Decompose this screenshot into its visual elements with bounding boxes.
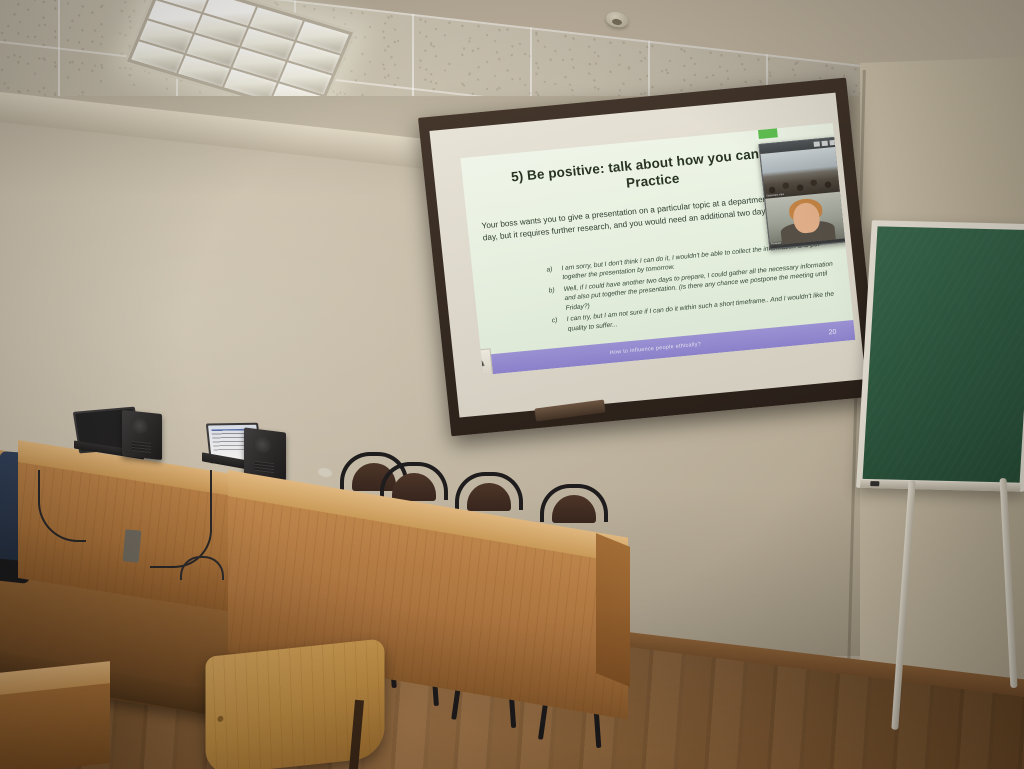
classroom-photo: Projection screen 5) Be positive: talk a… [0, 0, 1024, 769]
slide-number: 20 [828, 328, 836, 336]
option-marker: c) [551, 316, 557, 326]
slide-logo: ♞ [469, 348, 494, 375]
chalk-eraser [870, 481, 879, 486]
slide-accent-square [758, 124, 778, 139]
option-marker: a) [546, 265, 553, 275]
maximize-icon[interactable] [821, 141, 827, 147]
chair-3-pad [467, 483, 511, 511]
smoke-detector-icon [606, 11, 628, 29]
video-call-window[interactable]: Classroom view Presenter [758, 137, 849, 250]
projection-screen: 5) Be positive: talk about how you can h… [418, 78, 879, 437]
close-icon[interactable] [829, 140, 835, 146]
chalkboard [856, 220, 1024, 492]
speaker-right [244, 427, 286, 480]
speaker-left [122, 410, 162, 460]
speaker-right-vent [255, 460, 274, 473]
video-pane-classroom[interactable]: Classroom view [761, 147, 843, 199]
speaker-left-vent [132, 441, 150, 453]
chair-4-pad [552, 495, 596, 523]
cable-2 [150, 470, 212, 568]
desk-leg-bracket [123, 529, 142, 562]
presentation-slide: 5) Be positive: talk about how you can h… [460, 123, 855, 375]
chair-2-pad [392, 473, 436, 501]
logo-glyph: ♞ [475, 357, 486, 369]
screen-surface: 5) Be positive: talk about how you can h… [429, 93, 865, 418]
foreground-table-body [0, 683, 110, 769]
student-desk-side-panel [596, 533, 630, 687]
video-pane-presenter[interactable]: Presenter [765, 191, 848, 245]
video-pane-label-bottom: Presenter [770, 241, 783, 245]
minimize-icon[interactable] [814, 141, 820, 147]
chalkboard-surface [863, 226, 1024, 482]
option-marker: b) [548, 286, 555, 296]
